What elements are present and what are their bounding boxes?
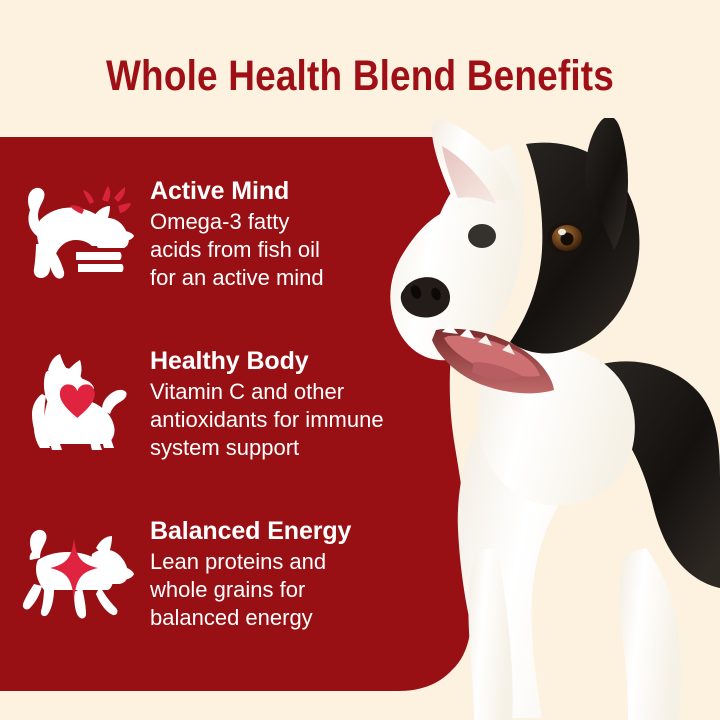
dog-sparkle-star-icon	[0, 515, 150, 625]
benefit-item-balanced-energy: Balanced Energy Lean proteins and whole …	[0, 515, 520, 665]
benefit-heading: Active Mind	[150, 177, 520, 207]
benefit-heading: Balanced Energy	[150, 517, 520, 547]
benefit-body: Omega-3 fatty acids from fish oil for an…	[150, 208, 470, 292]
benefits-poster: Whole Health Blend Benefits	[0, 0, 720, 720]
benefit-body: Vitamin C and other antioxidants for imm…	[150, 378, 470, 462]
dog-heart-icon	[0, 345, 150, 455]
page-title: Whole Health Blend Benefits	[50, 52, 669, 101]
benefit-text-block: Active Mind Omega-3 fatty acids from fis…	[150, 175, 520, 292]
benefit-body: Lean proteins and whole grains for balan…	[150, 548, 470, 632]
benefit-heading: Healthy Body	[150, 347, 520, 377]
dog-play-bow-sparks-icon	[0, 175, 150, 285]
benefit-text-block: Healthy Body Vitamin C and other antioxi…	[150, 345, 520, 462]
benefit-item-active-mind: Active Mind Omega-3 fatty acids from fis…	[0, 175, 520, 325]
benefit-text-block: Balanced Energy Lean proteins and whole …	[150, 515, 520, 632]
benefit-item-healthy-body: Healthy Body Vitamin C and other antioxi…	[0, 345, 520, 495]
